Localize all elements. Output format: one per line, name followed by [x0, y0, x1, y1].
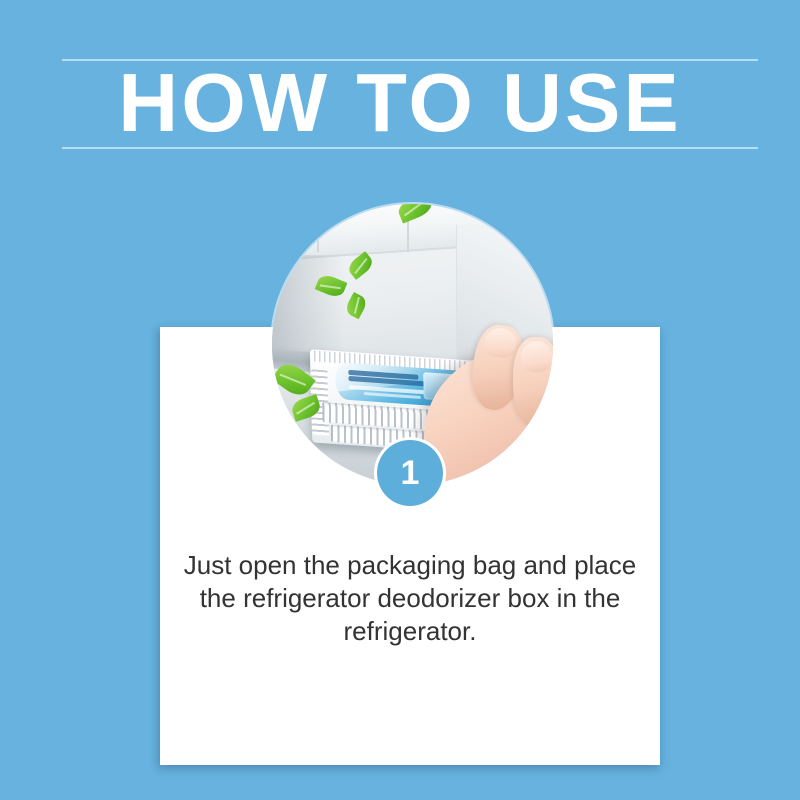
header: HOW TO USE — [0, 0, 800, 160]
leaf-vein — [280, 374, 306, 386]
finger — [513, 337, 553, 428]
leaf-vein — [354, 258, 367, 274]
leaf-vein — [296, 402, 315, 415]
step-badge: 1 — [377, 440, 443, 506]
leaf-vein — [320, 284, 341, 288]
page-title: HOW TO USE — [0, 60, 800, 146]
how-to-use-poster: HOW TO USE — [0, 0, 800, 800]
fingernail — [520, 341, 551, 372]
leaf-vein — [354, 297, 360, 314]
fingernail — [482, 327, 518, 360]
bottom-divider-line — [62, 147, 758, 149]
step-number: 1 — [401, 456, 420, 490]
fridge-door-seam — [317, 204, 319, 252]
step-description: Just open the packaging bag and place th… — [160, 549, 660, 648]
leaf-vein — [405, 204, 427, 217]
